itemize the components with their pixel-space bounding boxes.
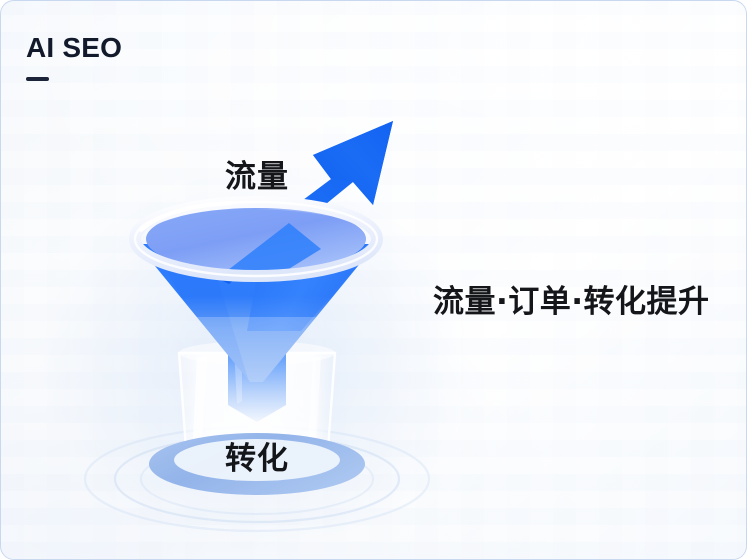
headline-right: 流量·订单·转化提升 xyxy=(433,276,710,321)
ai-seo-funnel-card: AI SEO xyxy=(0,0,747,560)
title-block: AI SEO xyxy=(26,34,122,81)
label-conversion: 转化 xyxy=(225,433,289,478)
label-traffic: 流量 xyxy=(225,151,289,196)
title-underline-rule xyxy=(26,77,49,81)
page-title: AI SEO xyxy=(26,34,122,62)
